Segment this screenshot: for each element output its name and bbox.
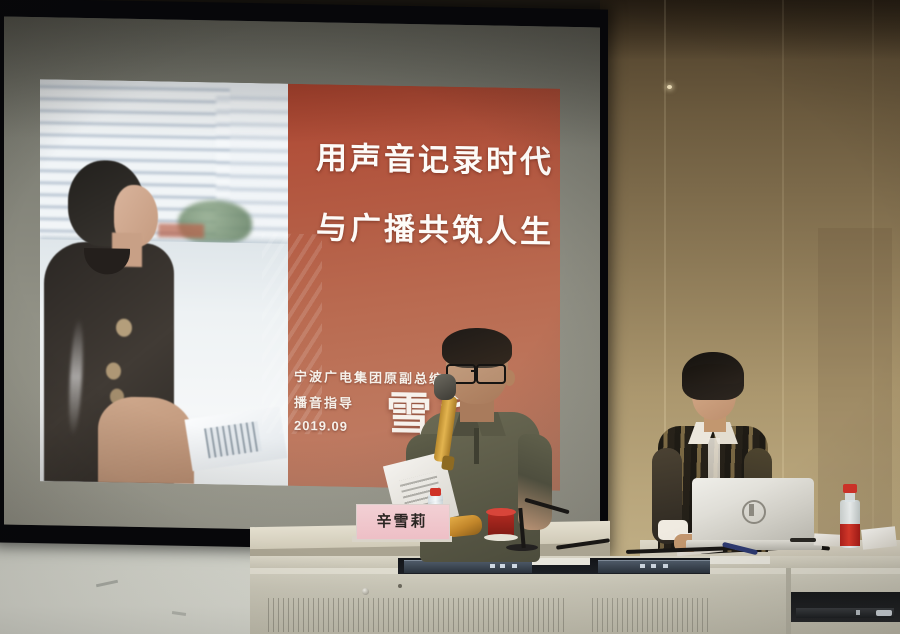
photo-person-arm [98,396,194,484]
wall-seam [782,0,784,560]
photo-person-button [116,319,132,337]
console-divider [786,568,791,634]
microphone-head [434,374,456,400]
table-papers [861,526,897,549]
console-device-led [876,610,892,616]
eyeglasses-bridge [471,370,478,372]
wall-light-reflection [667,85,672,89]
microphone-base [441,455,455,471]
pen [790,538,816,542]
rack-led [663,564,668,568]
name-placard-text: 辛雪莉 [356,510,448,531]
water-bottle-label [840,524,860,546]
photo-roof [158,223,204,238]
rack-led [640,564,645,568]
right-wall-shadow [600,0,900,60]
screenshot-root: 用声音记录时代 与广播共筑人生 宁波广电集团原副总编 播音指导 2019.09 … [0,0,900,634]
slide-photo [40,79,288,486]
female-hair-fringe [684,364,742,384]
eyeglasses-icon [476,364,506,384]
rack-panel-light [710,556,770,564]
water-bottle-cap [430,488,441,496]
presenter-arm-right [518,434,552,530]
console-vents [268,598,568,632]
presenter-hair [442,328,512,368]
photo-person-button [106,362,121,379]
red-cup-rim [486,508,516,516]
rack-led [500,564,505,568]
rack-led [651,564,656,568]
photo-trees [178,200,252,245]
console-vents [592,598,712,632]
slide-date: 2019.09 [294,418,348,434]
water-bottle-cap [843,484,857,493]
console-device-button[interactable] [856,610,860,615]
slide-title-line1: 用声音记录时代 [316,132,554,181]
rack-led [490,564,495,568]
table-papers [814,533,841,546]
console-screw [362,588,369,595]
slide-title-line2: 与广播共筑人生 [316,202,554,251]
rack-led [512,564,517,568]
dell-logo-icon [742,500,766,524]
slide-subtitle-line2: 播音指导 [294,392,354,412]
console-marking [398,584,402,588]
presenter-placket [474,428,479,464]
dell-logo-mark [749,504,754,516]
red-cup-base [484,534,518,541]
